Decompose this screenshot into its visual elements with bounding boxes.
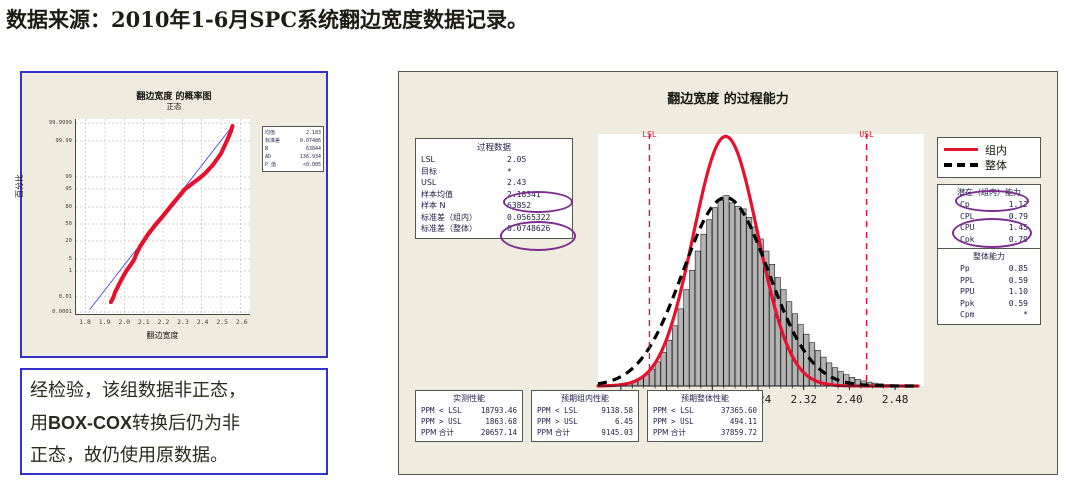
capability-histogram: 2.002.082.162.242.322.402.48 LSL USL: [584, 134, 924, 422]
probability-plot-y-tick: 95: [24, 186, 72, 192]
probability-plot-y-tick: 50: [24, 221, 72, 227]
conclusion-note-box: 经检验，该组数据非正态， 用BOX-COX转换后仍为非 正态，故仍使用原数据。: [20, 368, 328, 475]
process-data-key: LSL: [421, 154, 507, 166]
process-data-value: 2.43: [507, 177, 567, 189]
expected-within-performance-box: 预期组内性能PPM < LSL9138.58PPM > USL6.45PPM 合…: [531, 390, 639, 442]
performance-value: 9138.58: [585, 405, 633, 416]
process-data-row: 样本均值2.18341: [421, 189, 567, 201]
probability-plot-stat-row: 均值2.183: [265, 129, 321, 137]
capability-key: PPU: [960, 286, 994, 298]
stat-value: 63844: [306, 145, 321, 153]
performance-value: 37365.60: [701, 405, 757, 416]
lsl-label: LSL: [642, 130, 656, 139]
probability-plot-x-tick: 2.2: [158, 318, 170, 326]
legend-row: 整体: [944, 157, 1034, 172]
capability-key: Cp: [960, 199, 994, 211]
overall-capability-section: 整体能力 Pp0.85PPL0.59PPU1.10Ppk0.59Cpm*: [938, 248, 1040, 324]
probability-plot-x-tick: 2.5: [216, 318, 228, 326]
performance-row: PPM > USL1863.68: [421, 416, 517, 427]
probability-plot-y-tick: 99.9999: [24, 120, 72, 126]
capability-key: Cpk: [960, 234, 994, 246]
performance-key: PPM < LSL: [653, 405, 701, 416]
process-data-row: LSL2.05: [421, 154, 567, 166]
within-capability-row: Cp1.12: [938, 199, 1040, 211]
performance-value: 20657.14: [469, 427, 517, 438]
performance-header: 预期整体性能: [653, 393, 757, 404]
performance-key: PPM 合计: [537, 427, 585, 438]
stat-key: P 值: [265, 161, 276, 169]
process-data-header: 过程数据: [421, 141, 567, 153]
process-data-rows: LSL2.05目标*USL2.43样本均值2.18341样本 N63852标准差…: [421, 154, 567, 235]
within-capability-row: Cpk0.79: [938, 234, 1040, 246]
stat-value: <0.005: [303, 161, 321, 169]
legend-label: 整体: [985, 157, 1007, 173]
note-line-3: 正态，故仍使用原数据。: [30, 440, 318, 472]
probability-plot-x-tick: 1.8: [79, 318, 91, 326]
performance-header: 预期组内性能: [537, 393, 633, 404]
process-data-value: 0.0748626: [507, 223, 567, 235]
within-capability-row: CPU1.45: [938, 222, 1040, 234]
overall-capability-row: Ppk0.59: [938, 298, 1040, 310]
probability-plot-plot-area: [75, 119, 250, 315]
performance-key: PPM > USL: [537, 416, 585, 427]
capability-value: 0.79: [994, 234, 1028, 246]
performance-key: PPM 合计: [421, 427, 469, 438]
probability-plot-y-tick: 99: [24, 174, 72, 180]
process-data-row: USL2.43: [421, 177, 567, 189]
probability-plot-y-tick: 1: [24, 268, 72, 274]
performance-header: 实测性能: [421, 393, 517, 404]
note-line-2-prefix: 用: [30, 413, 48, 434]
performance-key: PPM < LSL: [421, 405, 469, 416]
performance-key: PPM < LSL: [537, 405, 585, 416]
note-line-2-bold: BOX-COX: [48, 413, 132, 433]
stat-key: 均值: [265, 129, 275, 137]
probability-plot-x-tick: 2.6: [236, 318, 248, 326]
curve-legend: 组内整体: [937, 137, 1041, 178]
within-capability-rows: Cp1.12CPL0.79CPU1.45Cpk0.79: [938, 199, 1040, 245]
capability-key: Ppk: [960, 298, 994, 310]
overall-line-swatch: [944, 163, 978, 167]
capability-value: 0.59: [994, 298, 1028, 310]
probability-plot-stat-row: 标准差0.07486: [265, 137, 321, 145]
performance-key: PPM 合计: [653, 427, 701, 438]
probability-plot-x-tick: 2.4: [197, 318, 209, 326]
performance-value: 6.45: [585, 416, 633, 427]
overall-capability-row: PPL0.59: [938, 275, 1040, 287]
expected-overall-performance-box: 预期整体性能PPM < LSL37365.60PPM > USL494.11PP…: [647, 390, 763, 442]
capability-value: 1.45: [994, 222, 1028, 234]
overall-capability-row: Cpm*: [938, 309, 1040, 321]
performance-row: PPM > USL6.45: [537, 416, 633, 427]
page-title: 数据来源：2010年1-6月SPC系统翻边宽度数据记录。: [6, 4, 528, 34]
stat-key: AD: [265, 153, 271, 161]
capability-value: *: [994, 309, 1028, 321]
probability-plot-stat-row: P 值<0.005: [265, 161, 321, 169]
capability-indices-box: 潜在（组内）能力 Cp1.12CPL0.79CPU1.45Cpk0.79 整体能…: [937, 184, 1041, 325]
performance-value: 9145.03: [585, 427, 633, 438]
stat-key: N: [265, 145, 268, 153]
capability-key: PPL: [960, 275, 994, 287]
process-data-row: 目标*: [421, 166, 567, 178]
stat-value: 136.934: [300, 153, 321, 161]
performance-value: 494.11: [701, 416, 757, 427]
usl-label: USL: [859, 130, 873, 139]
capability-histogram-svg: 2.002.082.162.242.322.402.48: [584, 134, 924, 422]
within-line-swatch: [944, 148, 978, 151]
performance-row: PPM 合计20657.14: [421, 427, 517, 438]
process-data-key: 标准差（整体）: [421, 223, 507, 235]
probability-plot-svg: [76, 119, 250, 314]
stat-value: 0.07486: [300, 137, 321, 145]
screenshot-root: 数据来源：2010年1-6月SPC系统翻边宽度数据记录。 翻边宽度 的概率图 正…: [0, 0, 1078, 482]
process-data-value: 2.05: [507, 154, 567, 166]
capability-value: 1.12: [994, 199, 1028, 211]
probability-plot-x-tick: 2.1: [138, 318, 150, 326]
note-line-2-suffix: 转换后仍为非: [132, 413, 240, 434]
stat-key: 标准差: [265, 137, 280, 145]
process-capability-panel: 翻边宽度 的过程能力 过程数据 LSL2.05目标*USL2.43样本均值2.1…: [398, 71, 1058, 475]
process-data-value: *: [507, 166, 567, 178]
probability-plot-y-tick: 80: [24, 204, 72, 210]
performance-value: 18793.46: [469, 405, 517, 416]
process-data-key: 标准差（组内）: [421, 212, 507, 224]
capability-value: 0.59: [994, 275, 1028, 287]
observed-performance-box: 实测性能PPM < LSL18793.46PPM > USL1863.68PPM…: [415, 390, 523, 442]
probability-plot-y-tick: 99.99: [24, 138, 72, 144]
performance-value: 37859.72: [701, 427, 757, 438]
performance-value: 1863.68: [469, 416, 517, 427]
svg-text:2.48: 2.48: [882, 393, 909, 406]
probability-plot-stats-box: 均值2.183标准差0.07486N63844AD136.934P 值<0.00…: [262, 126, 324, 172]
probability-plot-stat-row: AD136.934: [265, 153, 321, 161]
process-data-key: USL: [421, 177, 507, 189]
capability-key: Cpm: [960, 309, 994, 321]
performance-row: PPM 合计9145.03: [537, 427, 633, 438]
process-data-value: 2.18341: [507, 189, 567, 201]
probability-plot-panel: 翻边宽度 的概率图 正态 99.999999.999995805020510.0…: [20, 71, 328, 358]
process-data-key: 样本均值: [421, 189, 507, 201]
performance-row: PPM < LSL37365.60: [653, 405, 757, 416]
capability-value: 0.85: [994, 263, 1028, 275]
probability-plot-stat-row: N63844: [265, 145, 321, 153]
process-capability-title: 翻边宽度 的过程能力: [399, 88, 1057, 107]
probability-plot-y-tick: 0.01: [24, 294, 72, 300]
stat-value: 2.183: [306, 129, 321, 137]
probability-plot-y-axis-title: 百分比: [14, 174, 25, 198]
note-line-1: 经检验，该组数据非正态，: [30, 375, 318, 407]
within-capability-header: 潜在（组内）能力: [938, 187, 1040, 198]
performance-row: PPM 合计37859.72: [653, 427, 757, 438]
probability-plot-x-tick: 2.3: [177, 318, 189, 326]
process-data-row: 样本 N63852: [421, 200, 567, 212]
probability-plot-y-tick: 20: [24, 238, 72, 244]
probability-plot-x-axis-title: 翻边宽度: [75, 330, 250, 341]
within-capability-row: CPL0.79: [938, 211, 1040, 223]
svg-text:2.32: 2.32: [790, 393, 817, 406]
legend-row: 组内: [944, 142, 1034, 157]
svg-text:2.40: 2.40: [836, 393, 863, 406]
legend-label: 组内: [985, 142, 1007, 158]
probability-plot-x-tick: 1.9: [99, 318, 111, 326]
capability-key: Pp: [960, 263, 994, 275]
performance-key: PPM > USL: [421, 416, 469, 427]
overall-capability-row: PPU1.10: [938, 286, 1040, 298]
overall-capability-row: Pp0.85: [938, 263, 1040, 275]
process-data-row: 标准差（组内）0.0565322: [421, 212, 567, 224]
capability-key: CPL: [960, 211, 994, 223]
probability-plot-x-tick-labels: 1.81.92.02.12.22.32.42.52.6: [75, 318, 250, 330]
overall-capability-header: 整体能力: [938, 251, 1040, 262]
probability-plot-x-tick: 2.0: [118, 318, 130, 326]
overall-capability-rows: Pp0.85PPL0.59PPU1.10Ppk0.59Cpm*: [938, 263, 1040, 321]
capability-value: 0.79: [994, 211, 1028, 223]
process-data-key: 目标: [421, 166, 507, 178]
performance-row: PPM < LSL9138.58: [537, 405, 633, 416]
probability-plot-subtitle: 正态: [22, 101, 326, 112]
capability-value: 1.10: [994, 286, 1028, 298]
probability-plot-y-tick: 5: [24, 256, 72, 262]
performance-row: PPM > USL494.11: [653, 416, 757, 427]
process-data-value: 0.0565322: [507, 212, 567, 224]
process-data-value: 63852: [507, 200, 567, 212]
process-data-key: 样本 N: [421, 200, 507, 212]
performance-key: PPM > USL: [653, 416, 701, 427]
note-line-2: 用BOX-COX转换后仍为非: [30, 407, 318, 440]
probability-plot-y-tick: 0.0001: [24, 309, 72, 315]
within-capability-section: 潜在（组内）能力 Cp1.12CPL0.79CPU1.45Cpk0.79: [938, 185, 1040, 248]
process-data-box: 过程数据 LSL2.05目标*USL2.43样本均值2.18341样本 N638…: [415, 138, 573, 239]
capability-key: CPU: [960, 222, 994, 234]
probability-plot-y-tick-labels: 99.999999.999995805020510.010.0001: [22, 119, 72, 315]
performance-row: PPM < LSL18793.46: [421, 405, 517, 416]
process-data-row: 标准差（整体）0.0748626: [421, 223, 567, 235]
